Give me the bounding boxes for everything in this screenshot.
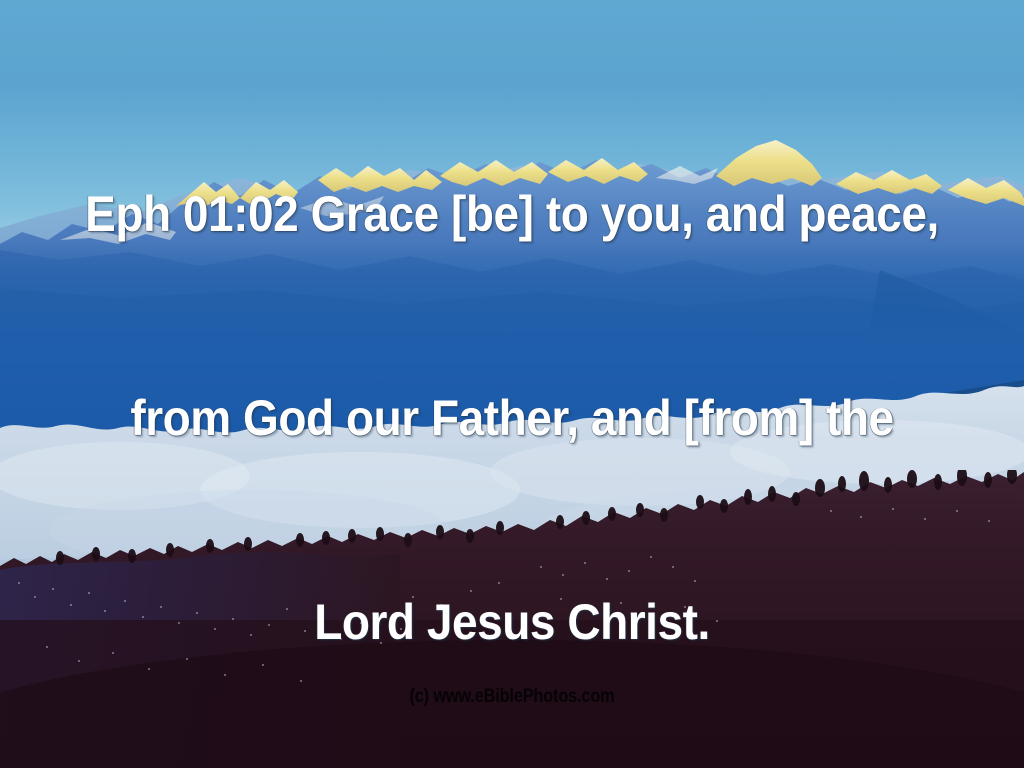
dark-foreground-ridge xyxy=(0,470,1024,768)
verse-image: Eph 01:02 Grace [be] to you, and peace, … xyxy=(0,0,1024,768)
watermark-credit: (c) www.eBiblePhotos.com xyxy=(72,686,953,708)
sunlit-peak-right xyxy=(836,170,942,194)
sunlit-peak-right-big xyxy=(716,140,822,186)
village-lights xyxy=(0,470,1024,768)
